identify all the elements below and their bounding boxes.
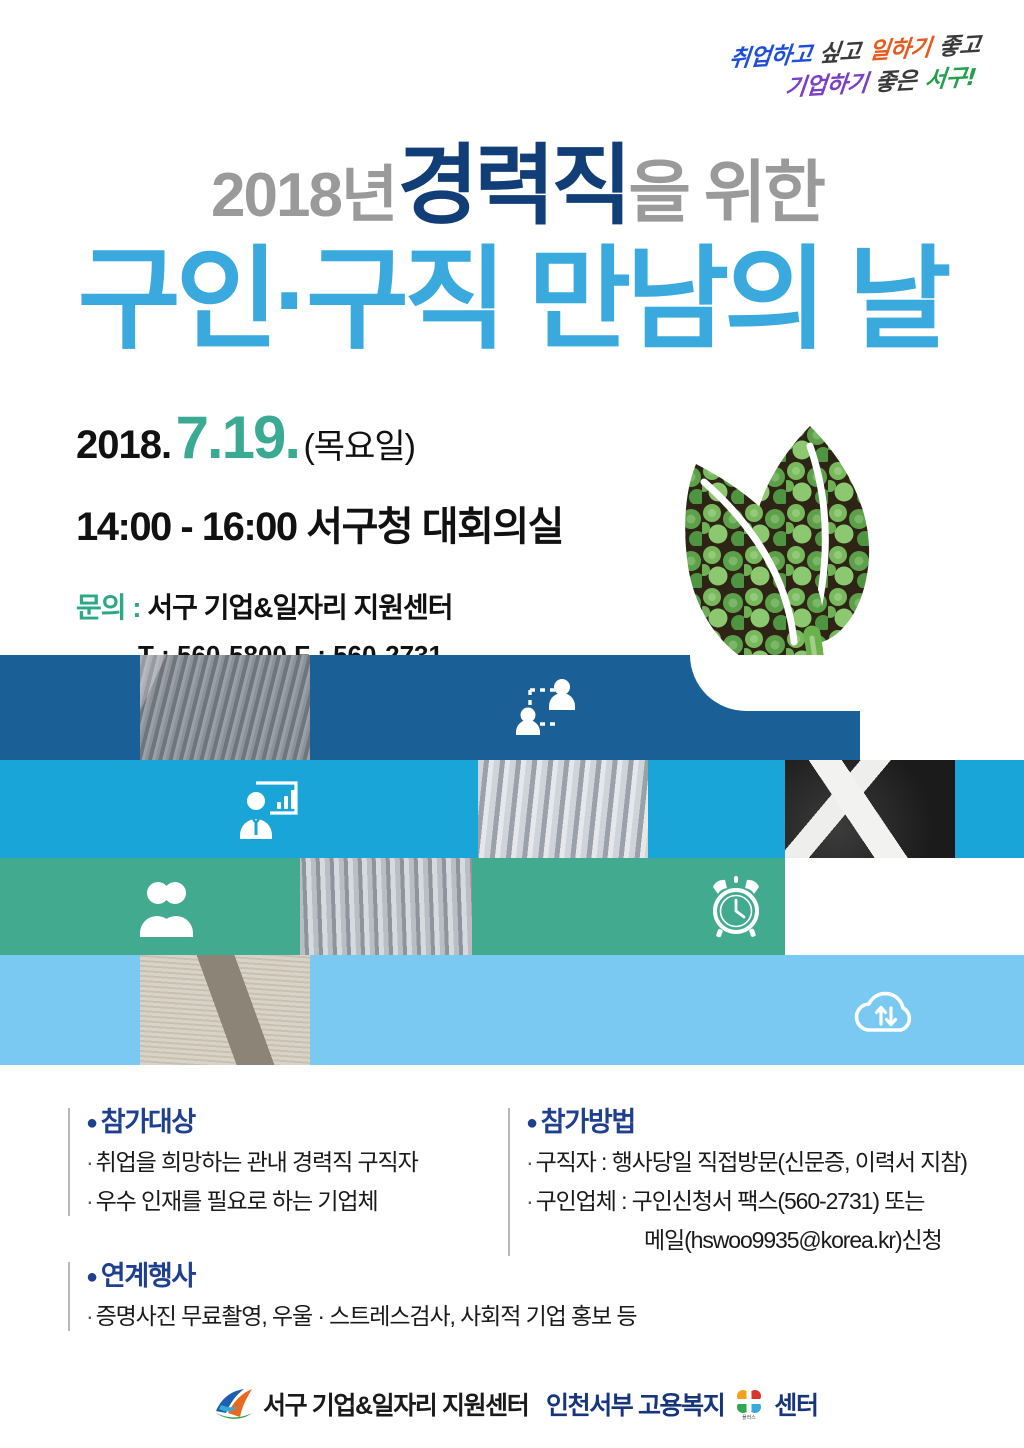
users-group-icon	[132, 871, 204, 943]
logo-2-text-a: 인천서부 고용복지	[546, 1386, 724, 1422]
logo-2-text-b: 센터	[774, 1386, 817, 1422]
network-people-icon	[508, 672, 580, 744]
details-left-column: ●참가대상 ·취업을 희망하는 관내 경력직 구직자 ·우수 인재를 필요로 하…	[68, 1108, 498, 1331]
tagline-word: 취업하고	[727, 40, 813, 77]
detail-block-related-events: ●연계행사 ·증명사진 무료촬영, 우울 · 스트레스검사, 사회적 기업 홍보…	[68, 1262, 498, 1331]
tagline-word: 기업하기	[783, 68, 869, 105]
handwritten-tagline: 취업하고 싶고 일하기 좋고 기업하기 좋은 서구!	[640, 40, 980, 103]
seogu-swoosh-icon	[214, 1387, 254, 1421]
item-text: 취업을 희망하는 관내 경력직 구직자	[96, 1149, 418, 1175]
page-title: 2018년 경력직을 위한 구인·구직 만남의 날	[0, 142, 1024, 356]
detail-item: ·취업을 희망하는 관내 경력직 구직자	[86, 1147, 498, 1177]
detail-item: ·구인업체 : 구인신청서 팩스(560-2731) 또는	[526, 1186, 988, 1216]
event-contact-line: 문의 : 서구 기업&일자리 지원센터	[76, 586, 636, 626]
detail-heading-text: 참가대상	[101, 1107, 195, 1137]
event-info: 2018. 7.19. (목요일) 14:00 - 16:00 서구청 대회의실…	[76, 408, 636, 671]
logo-incheon-west-employment-welfare-center: 인천서부 고용복지 플러스 센터	[546, 1386, 818, 1422]
tagline-word: 좋은	[874, 66, 919, 100]
detail-item-continuation: 메일(hswoo9935@korea.kr)신청	[526, 1225, 988, 1255]
event-time-place: 14:00 - 16:00 서구청 대회의실	[76, 494, 636, 552]
event-date-weekday: (목요일)	[303, 428, 414, 466]
tagline-word: 좋고	[937, 30, 982, 64]
mosaic-band-row-4	[0, 955, 1024, 1065]
tagline-word: 싶고	[818, 37, 863, 71]
band-1-notch	[690, 655, 860, 711]
event-date-line: 2018. 7.19. (목요일)	[76, 408, 636, 468]
detail-item: ·우수 인재를 필요로 하는 기업체	[86, 1186, 498, 1216]
mosaic-band-row-2	[0, 760, 1024, 858]
item-marker: ·	[86, 1303, 93, 1329]
detail-item: ·증명사진 무료촬영, 우울 · 스트레스검사, 사회적 기업 홍보 등	[86, 1301, 498, 1331]
detail-heading: ●참가대상	[86, 1108, 498, 1138]
item-marker: ·	[526, 1149, 533, 1175]
skyscraper-photo	[140, 655, 310, 760]
item-text: 증명사진 무료촬영, 우울 · 스트레스검사, 사회적 기업 홍보 등	[96, 1303, 637, 1329]
pedestrian-bridge-photo	[300, 858, 472, 955]
item-text: 구직자 : 행사당일 직접방문(신문증, 이력서 지참)	[536, 1149, 967, 1175]
item-marker: ·	[86, 1188, 93, 1214]
svg-text:플러스: 플러스	[742, 1414, 756, 1420]
mosaic-band-row-1	[0, 655, 1024, 760]
title-line-1: 2018년 경력직을 위한	[0, 142, 1024, 230]
presenter-chart-icon	[230, 773, 302, 845]
bullet-icon: ●	[86, 1266, 97, 1288]
title-highlight: 경력직	[397, 136, 628, 235]
tagline-word: 서구!	[923, 62, 977, 97]
detail-item: ·구직자 : 행사당일 직접방문(신문증, 이력서 지참)	[526, 1147, 988, 1177]
contact-label: 문의 :	[76, 592, 141, 623]
title-suffix: 을 위한	[628, 155, 823, 231]
event-date-year: 2018.	[76, 423, 171, 467]
item-marker: ·	[526, 1188, 533, 1214]
item-text: 우수 인재를 필요로 하는 기업체	[96, 1188, 378, 1214]
alarm-clock-icon	[700, 871, 772, 943]
office-tower-photo	[478, 760, 648, 858]
logo-seogu-job-center: 서구 기업&일자리 지원센터	[214, 1386, 528, 1422]
logo-1-text: 서구 기업&일자리 지원센터	[263, 1386, 528, 1422]
detail-heading: ●참가방법	[526, 1108, 988, 1138]
detail-heading-text: 참가방법	[541, 1107, 635, 1137]
arrow-road-marking-photo	[785, 760, 955, 858]
contact-org: 서구 기업&일자리 지원센터	[147, 592, 452, 623]
newspaper-stamp-photo	[140, 955, 310, 1065]
item-text: 구인업체 : 구인신청서 팩스(560-2731) 또는	[536, 1188, 925, 1214]
bullet-icon: ●	[526, 1112, 537, 1134]
tagline-word: 일하기	[867, 33, 932, 68]
details-right-column: ●참가방법 ·구직자 : 행사당일 직접방문(신문증, 이력서 지참) ·구인업…	[508, 1108, 988, 1256]
details-section: ●참가대상 ·취업을 희망하는 관내 경력직 구직자 ·우수 인재를 필요로 하…	[0, 1108, 1024, 1338]
item-marker: ·	[86, 1149, 93, 1175]
detail-heading-text: 연계행사	[101, 1261, 195, 1291]
detail-block-participants: ●참가대상 ·취업을 희망하는 관내 경력직 구직자 ·우수 인재를 필요로 하…	[68, 1108, 498, 1216]
detail-heading: ●연계행사	[86, 1262, 498, 1292]
title-year: 2018년	[211, 161, 396, 230]
mosaic-band-row-3	[0, 858, 1024, 955]
bullet-icon: ●	[86, 1112, 97, 1134]
detail-block-how-to-join: ●참가방법 ·구직자 : 행사당일 직접방문(신문증, 이력서 지참) ·구인업…	[508, 1108, 988, 1256]
title-line-2: 구인·구직 만남의 날	[0, 244, 1024, 356]
plus-flower-icon: 플러스	[734, 1388, 764, 1420]
event-date-number: 7.19.	[176, 404, 299, 471]
cloud-sync-icon	[850, 974, 922, 1046]
footer-logos: 서구 기업&일자리 지원센터 인천서부 고용복지 플러스 센터	[0, 1386, 1024, 1434]
